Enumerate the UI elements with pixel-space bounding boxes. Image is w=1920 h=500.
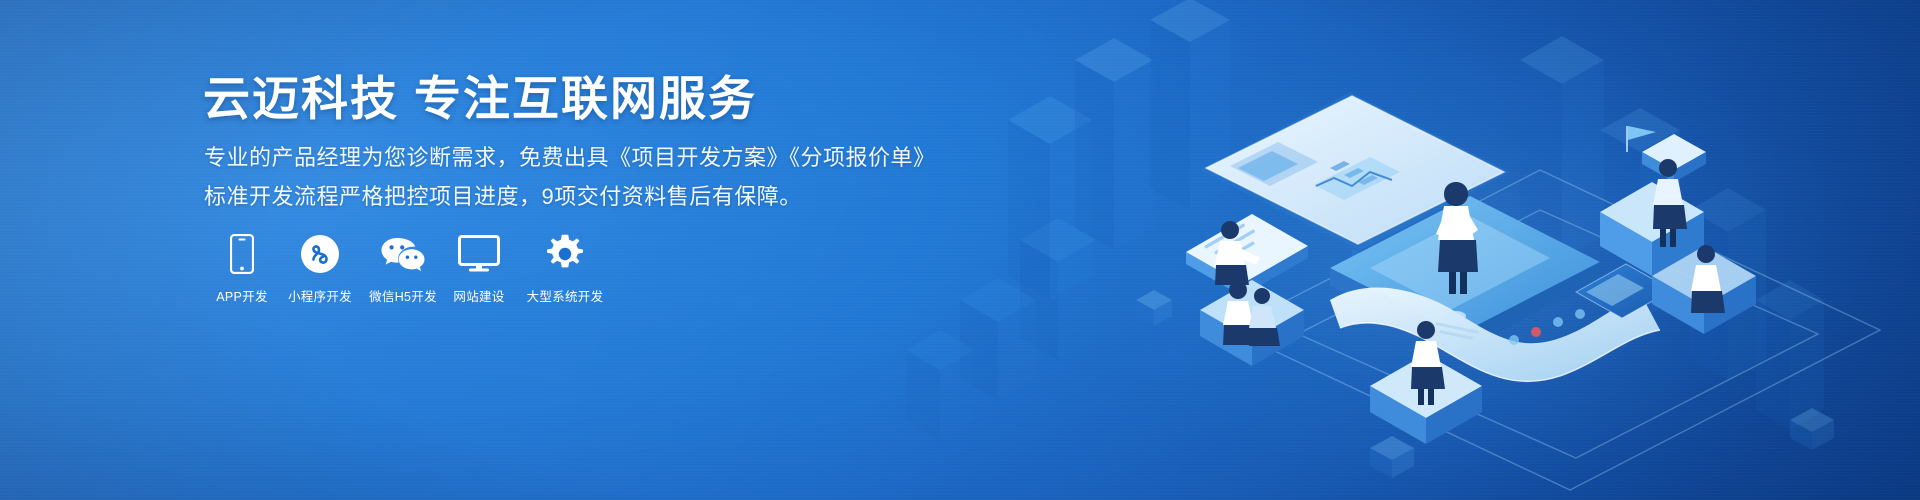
mobile-phone-icon	[210, 232, 274, 276]
service-item-wechat[interactable]: 微信H5开发	[364, 232, 442, 305]
service-label: 微信H5开发	[364, 286, 442, 305]
service-list: APP开发 小程序开发	[200, 232, 610, 305]
hero-banner: 云迈科技 专注互联网服务 专业的产品经理为您诊断需求，免费出具《项目开发方案》《…	[0, 0, 1920, 500]
service-item-mini-program[interactable]: 小程序开发	[284, 232, 356, 305]
gear-icon	[520, 232, 610, 276]
page-title: 云迈科技 专注互联网服务	[203, 73, 757, 126]
service-item-website[interactable]: 网站建设	[446, 232, 512, 305]
service-label: 网站建设	[446, 286, 512, 305]
service-label: APP开发	[210, 286, 274, 305]
banner-content: 云迈科技 专注互联网服务 专业的产品经理为您诊断需求，免费出具《项目开发方案》《…	[200, 0, 960, 500]
service-item-app[interactable]: APP开发	[210, 232, 274, 305]
subtitle-line-2: 标准开发流程严格把控项目进度，9项交付资料售后有保障。	[204, 186, 802, 208]
mini-program-icon	[284, 232, 356, 276]
wechat-icon	[364, 232, 442, 276]
subtitle-line-1: 专业的产品经理为您诊断需求，免费出具《项目开发方案》《分项报价单》	[204, 147, 936, 169]
service-label: 大型系统开发	[520, 286, 610, 305]
service-item-system[interactable]: 大型系统开发	[520, 232, 610, 305]
monitor-icon	[446, 232, 512, 276]
service-label: 小程序开发	[284, 286, 356, 305]
